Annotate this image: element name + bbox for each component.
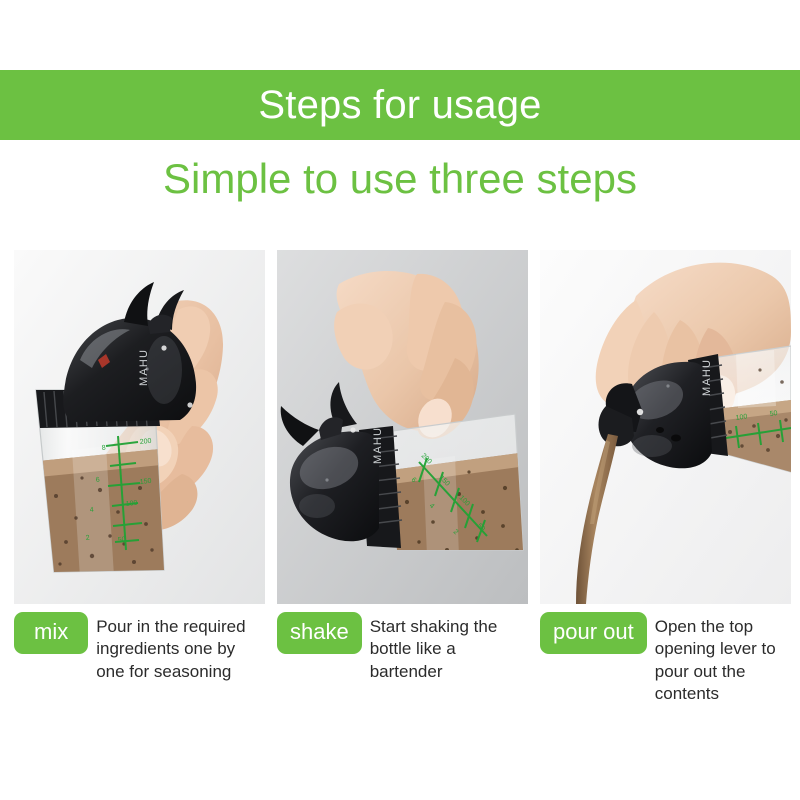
header-banner: Steps for usage [0,70,800,140]
step-image-shake: 200 150 100 50 6 4 2 [277,250,528,604]
bottle-brand-label: MAHU [701,359,713,396]
step-caption-mix: mix Pour in the required ingredients one… [14,612,265,722]
step-description-pour-out: Open the top opening lever to pour out t… [655,612,791,706]
lid-button-dot [350,427,355,432]
step-description-shake: Start shaking the bottle like a bartende… [370,612,528,683]
bottle-hand-illustration-shake: 200 150 100 50 6 4 2 [277,250,528,604]
step-badge-pour-out[interactable]: pour out [540,612,647,654]
svg-text:50: 50 [769,410,778,418]
step-badge-mix[interactable]: mix [14,612,88,654]
step-image-mix: 200 150 100 50 8 6 4 2 [14,250,265,604]
lid-button-dot [161,345,166,350]
step-images-row: 200 150 100 50 8 6 4 2 [14,250,796,604]
svg-text:50: 50 [117,536,126,544]
step-caption-shake: shake Start shaking the bottle like a ba… [277,612,528,722]
bottle-hand-illustration-mix: 200 150 100 50 8 6 4 2 [14,250,265,604]
svg-text:150: 150 [139,478,151,486]
page-subtitle: Simple to use three steps [0,156,800,202]
bottle-brand-label: MAHU [372,427,384,464]
svg-text:100: 100 [125,500,137,508]
lid-button-dot [637,409,643,415]
svg-text:200: 200 [139,438,151,446]
step-image-pour-out: 100 50 [540,250,791,604]
step-description-mix: Pour in the required ingredients one by … [96,612,256,683]
bottle-brand-label: MAHU [138,349,150,386]
page-title: Steps for usage [258,85,541,125]
step-caption-pour-out: pour out Open the top opening lever to p… [540,612,791,722]
step-badge-shake[interactable]: shake [277,612,362,654]
bottle-hand-illustration-pour: 100 50 [540,250,791,604]
step-captions-row: mix Pour in the required ingredients one… [14,612,796,722]
